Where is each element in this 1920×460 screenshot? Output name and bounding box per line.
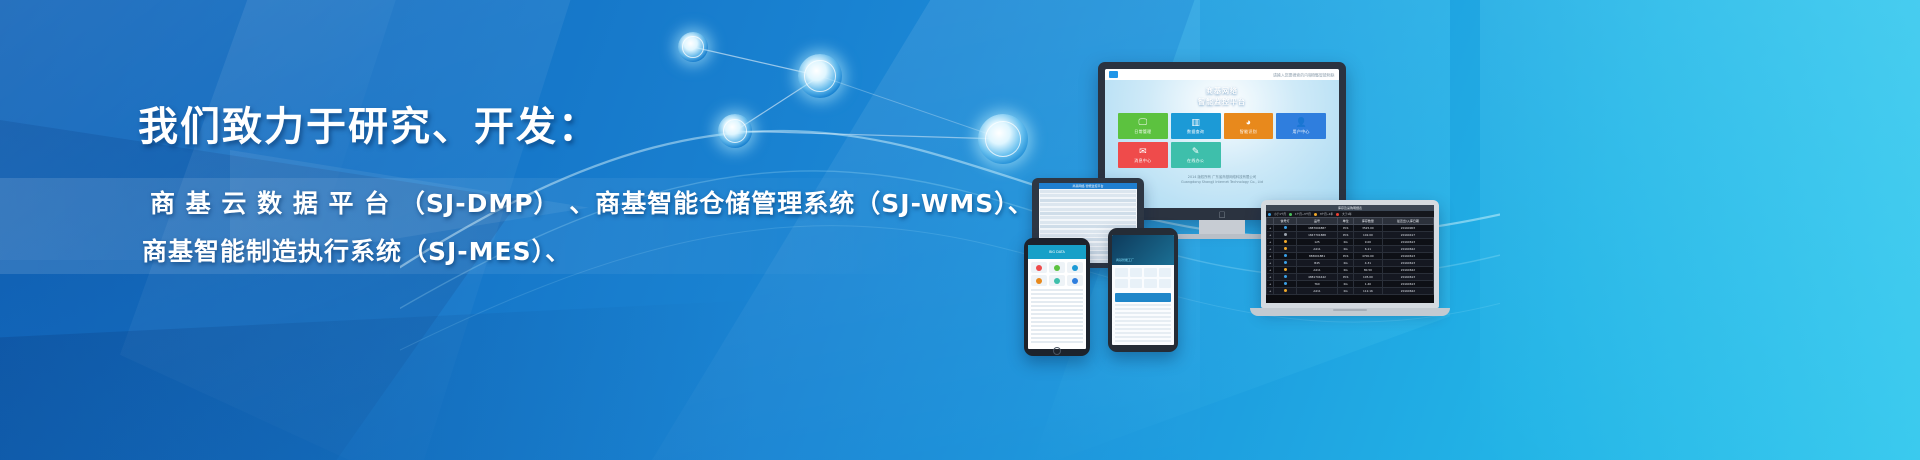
phone-icon-grid <box>1028 259 1086 289</box>
user-icon: 👤 <box>1296 118 1307 127</box>
table-header-row: 信号灯品号单位库存数量最近出/入库日期 <box>1267 218 1434 225</box>
list-item[interactable] <box>1031 317 1083 319</box>
list-item[interactable] <box>1115 308 1171 310</box>
cell-qty: 4700.00 <box>1353 253 1382 260</box>
app-dot-icon <box>1072 278 1078 284</box>
cell-unit: KG <box>1338 239 1354 246</box>
status-dot-cell <box>1274 274 1296 281</box>
app-dot-icon <box>1036 278 1042 284</box>
list-item[interactable] <box>1115 328 1171 330</box>
phone2-app-cell[interactable] <box>1130 268 1143 277</box>
banner-copy: 我们致力于研究、开发： 商 基 云 数 据 平 台 （SJ-DMP） 、商基智能… <box>0 0 1000 460</box>
cell-qty: 105.00 <box>1353 274 1382 281</box>
list-item[interactable] <box>1040 194 1136 197</box>
hero-banner: 我们致力于研究、开发： 商 基 云 数 据 平 台 （SJ-DMP） 、商基智能… <box>0 0 1920 460</box>
legend-dot-icon <box>1336 213 1339 216</box>
status-dot-cell <box>1274 232 1296 239</box>
cell-code: B45 <box>1296 260 1338 267</box>
phone2-app-cell[interactable] <box>1159 268 1172 277</box>
list-item[interactable] <box>1031 305 1083 307</box>
mail-icon: ✉ <box>1139 147 1147 156</box>
phone-header: BIG DATA <box>1028 245 1086 259</box>
imac-tile-label: 消息中心 <box>1134 158 1151 164</box>
laptop-lid: 库存及采购明细表 小于1个月 1个月~3个月 3个月~1年 大于1年 信号灯品号… <box>1261 200 1439 308</box>
cell-code: 7K0 <box>1296 281 1338 288</box>
imac-tile[interactable]: ▥ 数据查询 <box>1171 113 1221 139</box>
cell-date: 20160622 <box>1382 267 1433 274</box>
cell-qty: 9.00 <box>1353 239 1382 246</box>
imac-tile[interactable]: 👤 用户中心 <box>1276 113 1326 139</box>
cell-code: 1847701888 <box>1296 232 1338 239</box>
cell-date: 20160613 <box>1382 253 1433 260</box>
status-dot-cell <box>1274 288 1296 295</box>
phone2-mockup: 商基智能工厂 <box>1108 228 1178 352</box>
home-button-icon[interactable] <box>1053 347 1061 355</box>
imac-topbar: 请输入您要搜索的内容 ⌕ 商基智能物联 <box>1105 69 1339 80</box>
phone-header-text: BIG DATA <box>1049 250 1065 254</box>
row-expand-cell[interactable]: + <box>1267 253 1274 260</box>
imac-stand-neck <box>1199 220 1245 234</box>
imac-title-block: 商基网络 智能监控平台 <box>1105 80 1339 108</box>
legend-dot-icon <box>1289 213 1292 216</box>
edit-icon: ✎ <box>1192 147 1200 156</box>
list-item[interactable] <box>1031 309 1083 311</box>
phone2-app-cell[interactable] <box>1159 279 1172 288</box>
list-item[interactable] <box>1040 203 1136 206</box>
phone2-app-cell[interactable] <box>1115 268 1128 277</box>
list-item[interactable] <box>1115 304 1171 306</box>
imac-tile-label: 在线办公 <box>1187 158 1204 164</box>
row-expand-cell[interactable]: + <box>1267 225 1274 232</box>
phone-app-cell[interactable] <box>1049 275 1065 286</box>
imac-tile[interactable]: ✉ 消息中心 <box>1118 142 1168 168</box>
tablet-header-text: 商基网络 智能监控平台 <box>1073 184 1104 188</box>
list-item[interactable] <box>1115 324 1171 326</box>
status-dot-cell <box>1274 253 1296 260</box>
table-row[interactable]: +125KG9.0020160613 <box>1267 239 1434 246</box>
phone2-banner[interactable] <box>1115 293 1171 302</box>
status-dot-cell <box>1274 239 1296 246</box>
cell-code: 8836018B1 <box>1296 253 1338 260</box>
status-dot-cell <box>1274 246 1296 253</box>
cell-unit: PCS <box>1338 253 1354 260</box>
cell-date: 20160903 <box>1382 225 1433 232</box>
phone2-hero: 商基智能工厂 <box>1112 235 1174 265</box>
table-row[interactable]: +7K0KG1.4020160613 <box>1267 281 1434 288</box>
cell-unit: KG <box>1338 281 1354 288</box>
laptop-window-title: 库存及采购明细表 <box>1338 206 1362 210</box>
cell-qty: 102.00 <box>1353 232 1382 239</box>
phone2-app-cell[interactable] <box>1144 279 1157 288</box>
table-column-header <box>1267 218 1274 225</box>
laptop-deck <box>1250 308 1450 316</box>
row-expand-cell[interactable]: + <box>1267 232 1274 239</box>
banner-lines: 商 基 云 数 据 平 台 （SJ-DMP） 、商基智能仓储管理系统（SJ-WM… <box>0 178 920 274</box>
table-row[interactable]: +8836018B1PCS4700.0020160613 <box>1267 253 1434 260</box>
phone-app-cell[interactable] <box>1031 275 1047 286</box>
imac-logo-icon <box>1109 71 1118 78</box>
cell-unit: KG <box>1338 267 1354 274</box>
imac-tile[interactable]: ◕ 智能识别 <box>1224 113 1274 139</box>
row-expand-cell[interactable]: + <box>1267 267 1274 274</box>
app-dot-icon <box>1054 265 1060 271</box>
banner-line-2-text: 商基智能制造执行系统（SJ-MES）、 <box>142 232 571 268</box>
table-column-header: 信号灯 <box>1274 218 1296 225</box>
device-mockup-group: 请输入您要搜索的内容 ⌕ 商基智能物联 商基网络 智能监控平台 🖵 <box>1010 0 1920 460</box>
legend-label: 小于1个月 <box>1274 212 1286 216</box>
cell-code: A411 <box>1296 267 1338 274</box>
table-column-header: 品号 <box>1296 218 1338 225</box>
cell-date: 20160622 <box>1382 246 1433 253</box>
stock-table-body: +1887604887PCS3525.0020160903+1847701888… <box>1267 225 1434 295</box>
banner-line-2: 商基智能制造执行系统（SJ-MES）、 <box>0 226 920 274</box>
cell-date: 20160622 <box>1382 288 1433 295</box>
cell-unit: PCS <box>1338 225 1354 232</box>
legend-label: 3个月~1年 <box>1320 212 1333 216</box>
imac-tile-label: 用户中心 <box>1293 129 1310 135</box>
phone-app-cell[interactable] <box>1067 262 1083 273</box>
list-item[interactable] <box>1040 190 1136 193</box>
phone2-app-cell[interactable] <box>1130 279 1143 288</box>
imac-tile-label: 日常管理 <box>1134 129 1151 135</box>
cell-code: A411 <box>1296 288 1338 295</box>
imac-tile[interactable]: ✎ 在线办公 <box>1171 142 1221 168</box>
cell-qty: 1.40 <box>1353 281 1382 288</box>
legend-dot-icon <box>1268 213 1271 216</box>
cell-code: 125 <box>1296 239 1338 246</box>
legend-dot-icon <box>1314 213 1317 216</box>
cell-qty: 112.16 <box>1353 288 1382 295</box>
list-item[interactable] <box>1040 208 1136 211</box>
imac-tile-grid: 🖵 日常管理 ▥ 数据查询 ◕ 智能识别 <box>1105 108 1339 168</box>
list-item[interactable] <box>1031 301 1083 303</box>
imac-tile-label: 数据查询 <box>1187 129 1204 135</box>
cell-unit: PCS <box>1338 274 1354 281</box>
phone-app-cell[interactable] <box>1067 275 1083 286</box>
stock-table: 信号灯品号单位库存数量最近出/入库日期 +1887604887PCS3525.0… <box>1266 217 1434 295</box>
list-item[interactable] <box>1040 212 1136 215</box>
row-expand-cell[interactable]: + <box>1267 288 1274 295</box>
app-dot-icon <box>1054 278 1060 284</box>
cell-qty: 3525.00 <box>1353 225 1382 232</box>
cell-date: 20160613 <box>1382 239 1433 246</box>
pie-icon: ◕ <box>1246 118 1251 127</box>
phone2-app-cell[interactable] <box>1115 279 1128 288</box>
phone2-icon-grid <box>1112 265 1174 291</box>
cell-unit: PCS <box>1338 232 1354 239</box>
list-item[interactable] <box>1040 199 1136 202</box>
list-item[interactable] <box>1115 316 1171 318</box>
imac-brand-label: 商基智能物联 <box>1312 72 1335 78</box>
phone2-screen: 商基智能工厂 <box>1112 235 1174 345</box>
table-row[interactable]: +4881704442PCS105.0020160613 <box>1267 274 1434 281</box>
table-row[interactable]: +1847701888PCS102.0020160417 <box>1267 232 1434 239</box>
row-expand-cell[interactable]: + <box>1267 239 1274 246</box>
cell-date: 20160417 <box>1382 232 1433 239</box>
list-item[interactable] <box>1031 341 1083 343</box>
row-expand-cell[interactable]: + <box>1267 246 1274 253</box>
cell-unit: KG <box>1338 260 1354 267</box>
laptop-notice: 热烈祝贺多家外资网络IT产品正式全新升级上线！！ <box>1266 295 1434 303</box>
cell-qty: 80.50 <box>1353 267 1382 274</box>
legend-label: 大于1年 <box>1342 212 1351 216</box>
cell-date: 20160613 <box>1382 274 1433 281</box>
phone-app-cell[interactable] <box>1031 262 1047 273</box>
imac-tile-label: 智能识别 <box>1240 129 1257 135</box>
cell-qty: 4.31 <box>1353 260 1382 267</box>
list-item[interactable] <box>1040 216 1136 219</box>
status-dot-cell <box>1274 260 1296 267</box>
row-expand-cell[interactable]: + <box>1267 260 1274 267</box>
list-item[interactable] <box>1031 293 1083 295</box>
apple-logo-icon:  <box>1219 210 1226 220</box>
cell-qty: 6.11 <box>1353 246 1382 253</box>
imac-title-line1: 商基网络 <box>1105 86 1339 97</box>
table-row[interactable]: +B45KG4.3120160613 <box>1267 260 1434 267</box>
list-item[interactable] <box>1031 337 1083 339</box>
table-row[interactable]: +A411KG80.5020160622 <box>1267 267 1434 274</box>
laptop-mockup: 库存及采购明细表 小于1个月 1个月~3个月 3个月~1年 大于1年 信号灯品号… <box>1250 200 1450 328</box>
cell-unit: KG <box>1338 246 1354 253</box>
list-item[interactable] <box>1031 325 1083 327</box>
imac-topbar-right: 请输入您要搜索的内容 ⌕ 商基智能物联 <box>1286 73 1335 77</box>
cell-code: 4881704442 <box>1296 274 1338 281</box>
cell-code: 1887604887 <box>1296 225 1338 232</box>
list-item[interactable] <box>1115 332 1171 334</box>
table-row[interactable]: +A411KG112.1620160622 <box>1267 288 1434 295</box>
phone-screen: BIG DATA <box>1028 245 1086 349</box>
monitor-icon: 🖵 <box>1139 118 1148 127</box>
status-dot-cell <box>1274 267 1296 274</box>
banner-headline: 我们致力于研究、开发： <box>138 94 600 152</box>
list-item[interactable] <box>1115 312 1171 314</box>
table-column-header: 库存数量 <box>1353 218 1382 225</box>
cell-date: 20160613 <box>1382 281 1433 288</box>
list-item[interactable] <box>1031 329 1083 331</box>
row-expand-cell[interactable]: + <box>1267 274 1274 281</box>
table-column-header: 最近出/入库日期 <box>1382 218 1433 225</box>
list-item[interactable] <box>1031 321 1083 323</box>
list-item[interactable] <box>1115 320 1171 322</box>
banner-line-1-text: 商 基 云 数 据 平 台 （SJ-DMP） 、商基智能仓储管理系统（SJ-WM… <box>150 184 1034 220</box>
imac-title-line2: 智能监控平台 <box>1105 97 1339 108</box>
status-dot-cell <box>1274 225 1296 232</box>
phone2-app-cell[interactable] <box>1144 268 1157 277</box>
list-item[interactable] <box>1031 313 1083 315</box>
table-row[interactable]: +A411KG6.1120160622 <box>1267 246 1434 253</box>
app-dot-icon <box>1072 265 1078 271</box>
imac-tile[interactable]: 🖵 日常管理 <box>1118 113 1168 139</box>
list-item[interactable] <box>1115 336 1171 338</box>
phone2-list <box>1112 304 1174 342</box>
status-dot-cell <box>1274 281 1296 288</box>
cell-date: 20160613 <box>1382 260 1433 267</box>
app-dot-icon <box>1036 265 1042 271</box>
laptop-screen: 库存及采购明细表 小于1个月 1个月~3个月 3个月~1年 大于1年 信号灯品号… <box>1266 205 1434 303</box>
list-item[interactable] <box>1031 297 1083 299</box>
phone-app-cell[interactable] <box>1049 262 1065 273</box>
list-item[interactable] <box>1040 221 1136 224</box>
table-column-header: 单位 <box>1338 218 1354 225</box>
cell-unit: KG <box>1338 288 1354 295</box>
cell-code: A411 <box>1296 246 1338 253</box>
phone-mockup: BIG DATA <box>1024 238 1090 356</box>
legend-label: 1个月~3个月 <box>1295 212 1311 216</box>
row-expand-cell[interactable]: + <box>1267 281 1274 288</box>
phone-list <box>1028 289 1086 343</box>
phone2-hero-label: 商基智能工厂 <box>1116 258 1134 262</box>
list-item[interactable] <box>1031 289 1083 291</box>
list-item[interactable] <box>1115 340 1171 342</box>
table-row[interactable]: +1887604887PCS3525.0020160903 <box>1267 225 1434 232</box>
imac-search-placeholder[interactable]: 请输入您要搜索的内容 <box>1273 72 1312 78</box>
chart-icon: ▥ <box>1191 118 1200 127</box>
banner-line-1: 商 基 云 数 据 平 台 （SJ-DMP） 、商基智能仓储管理系统（SJ-WM… <box>0 178 920 226</box>
list-item[interactable] <box>1031 333 1083 335</box>
